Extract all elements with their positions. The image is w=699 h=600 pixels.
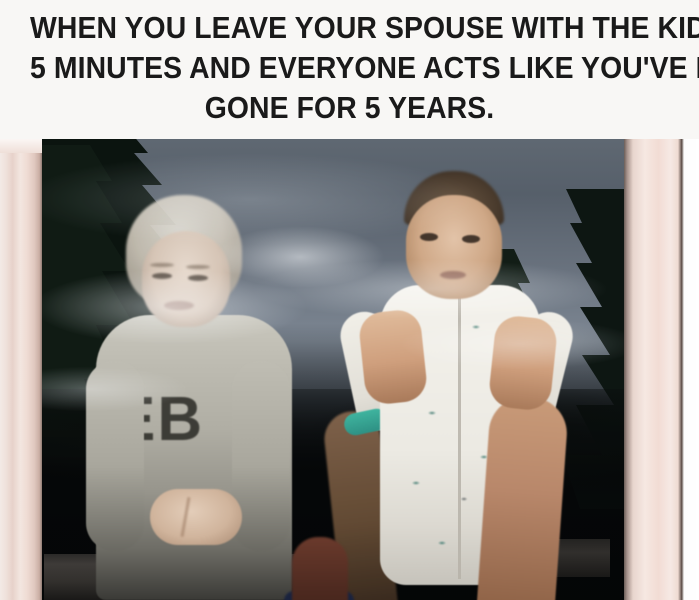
meme-image: WHEN YOU LEAVE YOUR SPOUSE WITH THE KIDS… (0, 0, 699, 600)
toddler-eye-right (188, 275, 208, 281)
photo: EB (0, 139, 699, 600)
toddler-mouth (164, 301, 194, 310)
baby-face (406, 195, 502, 299)
baby-eye-left (420, 233, 438, 241)
toddler-hands (150, 489, 242, 545)
onesie-zipper (458, 289, 461, 579)
adult-hand-right (487, 314, 558, 412)
toddler-eye-left (152, 273, 172, 279)
caption-line-1: WHEN YOU LEAVE YOUR SPOUSE WITH THE KIDS… (30, 8, 669, 48)
door-frame-top-left (0, 139, 42, 153)
toddler-arm-left (86, 361, 144, 551)
door-frame-right (624, 139, 699, 600)
caption-line-2: 5 MINUTES AND EVERYONE ACTS LIKE YOU'VE … (30, 48, 669, 88)
toddler-figure: EB (92, 189, 292, 600)
caption-line-3: GONE FOR 5 YEARS. (30, 88, 669, 128)
door-frame-left (0, 139, 42, 600)
adult-arm-right (477, 395, 569, 600)
baby-eye-right (462, 235, 480, 243)
stuffed-toy (292, 537, 348, 600)
caption-band: WHEN YOU LEAVE YOUR SPOUSE WITH THE KIDS… (0, 0, 699, 139)
baby-figure (366, 161, 576, 600)
toddler-brow-left (150, 263, 174, 267)
toddler-brow-right (186, 265, 210, 269)
toddler-face (142, 231, 230, 327)
baby-mouth (440, 271, 466, 279)
adult-hand-left (357, 308, 428, 406)
